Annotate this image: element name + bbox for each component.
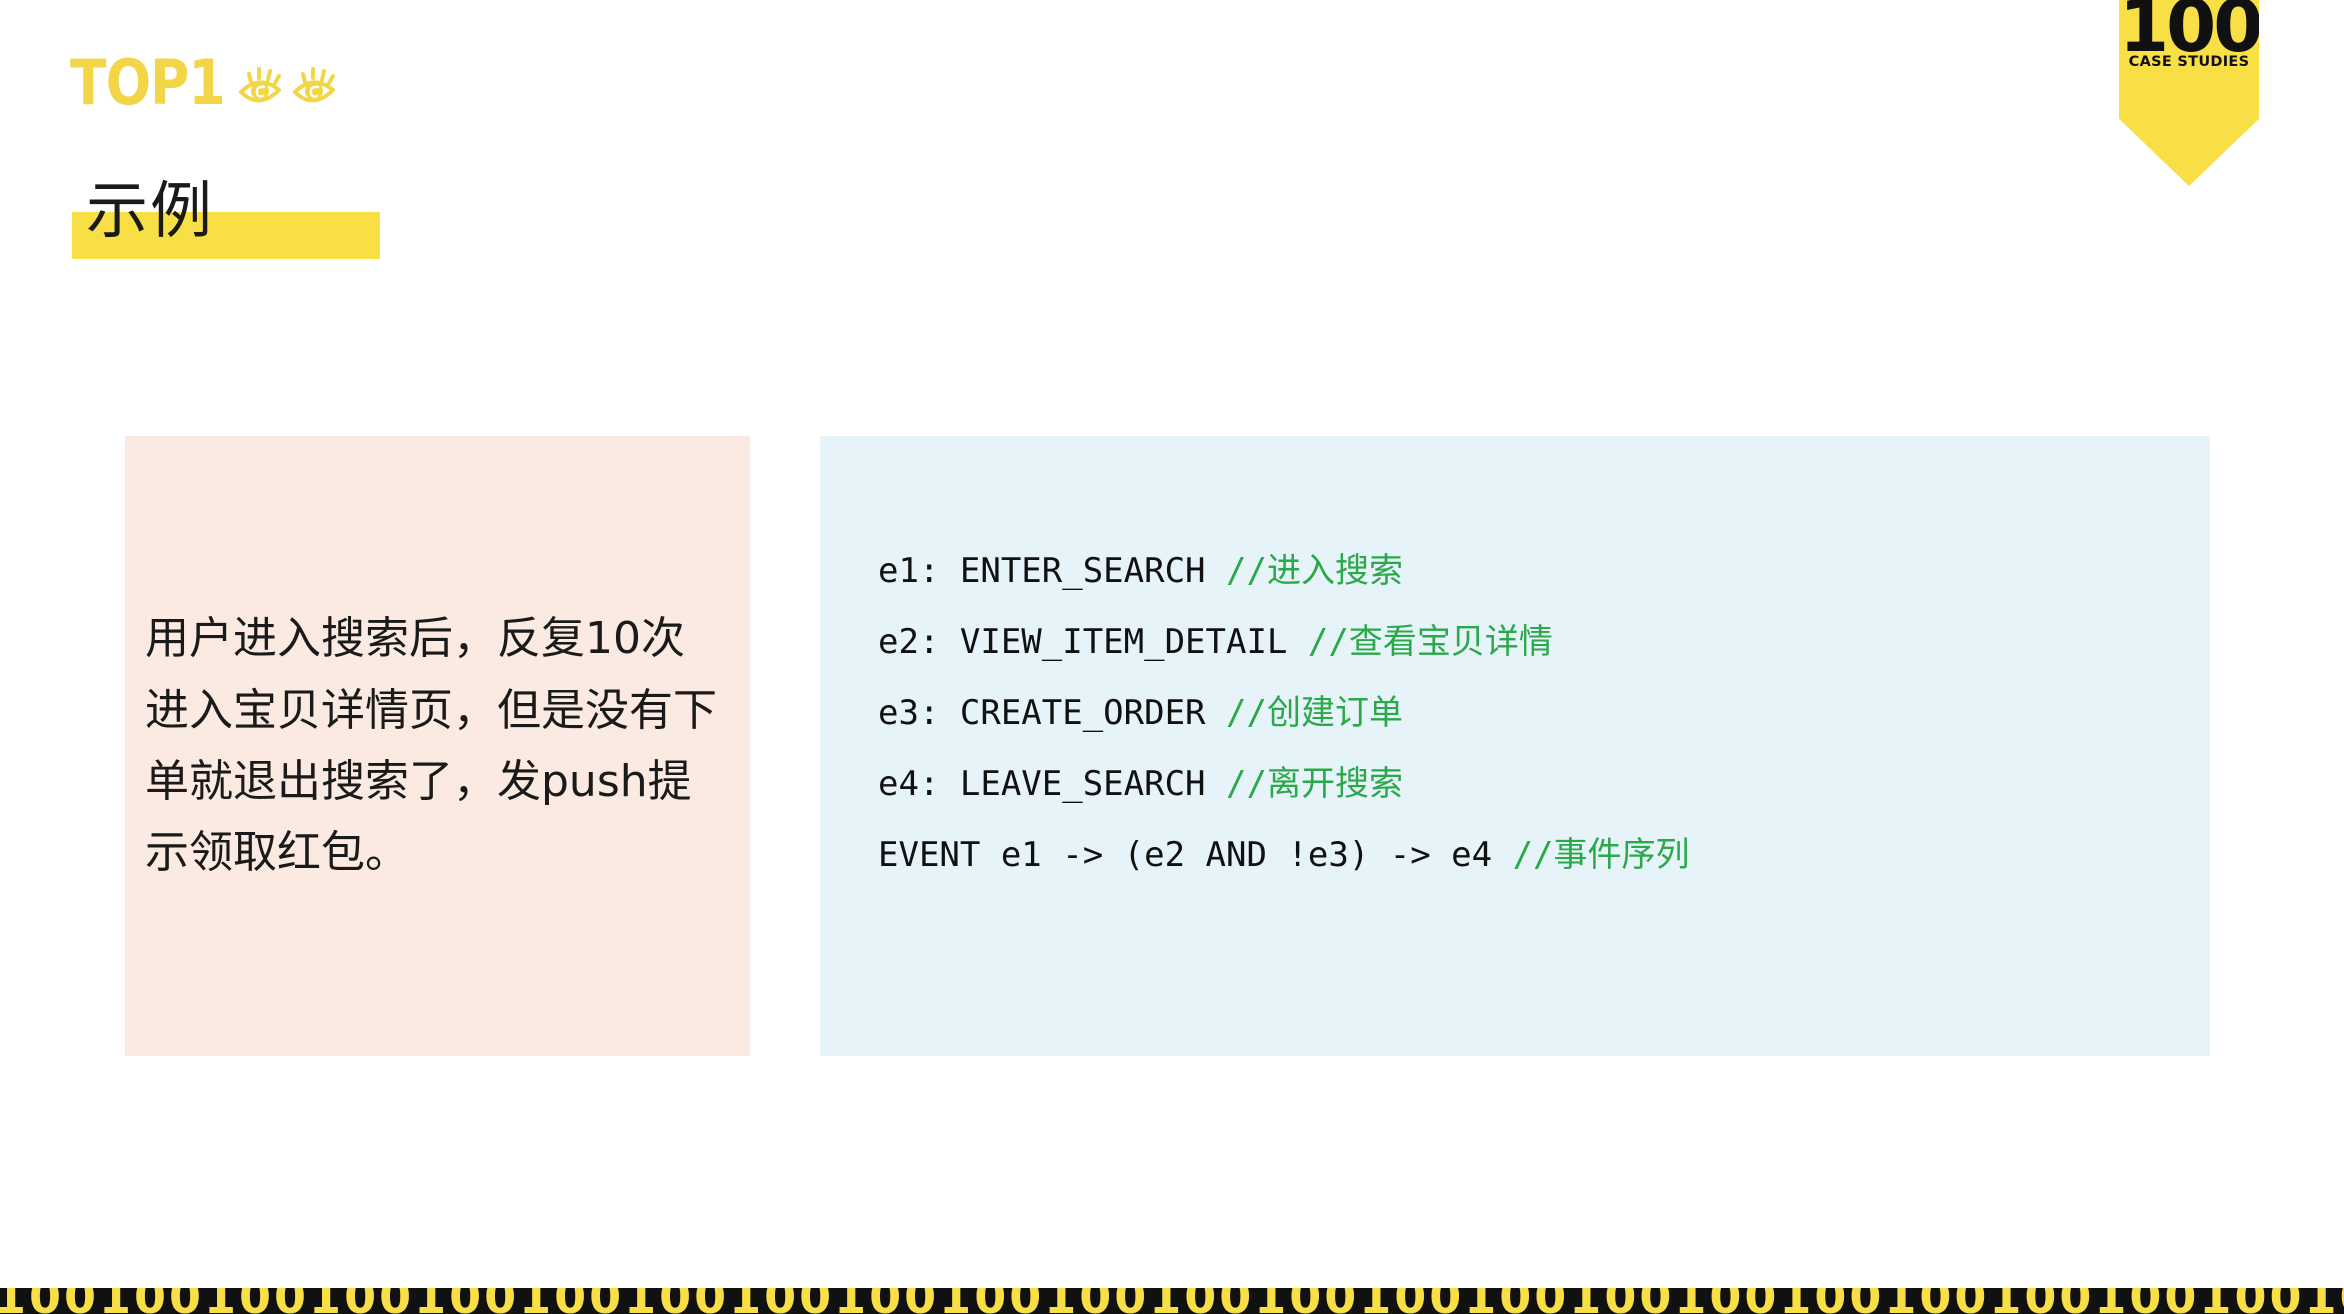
code-panel: e1: ENTER_SEARCH //进入搜索e2: VIEW_ITEM_DET…: [820, 436, 2210, 1056]
code-statement: EVENT e1 -> (e2 AND !e3) -> e4: [878, 835, 1513, 875]
scenario-text: 用户进入搜索后，反复10次进入宝贝详情页，但是没有下单就退出搜索了，发push提…: [125, 603, 750, 888]
code-comment: //进入搜索: [1226, 551, 1403, 591]
logo-wordmark: TOP1: [70, 52, 225, 114]
code-statement: e2: VIEW_ITEM_DETAIL: [878, 622, 1308, 662]
ribbon-subtitle: CASE STUDIES: [2119, 54, 2259, 70]
code-line: EVENT e1 -> (e2 AND !e3) -> e4 //事件序列: [878, 820, 2210, 891]
code-line-list: e1: ENTER_SEARCH //进入搜索e2: VIEW_ITEM_DET…: [878, 536, 2210, 891]
code-line: e2: VIEW_ITEM_DETAIL //查看宝贝详情: [878, 607, 2210, 678]
code-comment: //创建订单: [1226, 693, 1403, 733]
footer-pattern-strip: 1001001001001001001001001001001001001001…: [0, 1288, 2344, 1314]
page-title: 示例: [72, 178, 214, 262]
code-comment: //查看宝贝详情: [1308, 622, 1553, 662]
code-line: e3: CREATE_ORDER //创建订单: [878, 678, 2210, 749]
case-studies-ribbon: 100 CASE STUDIES: [2119, 0, 2259, 186]
ribbon-number: 100: [2119, 0, 2259, 62]
eyes-icon: [237, 60, 345, 112]
code-statement: e4: LEAVE_SEARCH: [878, 764, 1226, 804]
code-comment: //离开搜索: [1226, 764, 1403, 804]
code-statement: e3: CREATE_ORDER: [878, 693, 1226, 733]
code-line: e1: ENTER_SEARCH //进入搜索: [878, 536, 2210, 607]
code-line: e4: LEAVE_SEARCH //离开搜索: [878, 749, 2210, 820]
slide-canvas: TOP1: [0, 0, 2344, 1314]
top1-logo: TOP1: [70, 52, 345, 114]
code-statement: e1: ENTER_SEARCH: [878, 551, 1226, 591]
scenario-panel: 用户进入搜索后，反复10次进入宝贝详情页，但是没有下单就退出搜索了，发push提…: [125, 436, 750, 1056]
code-comment: //事件序列: [1513, 835, 1690, 875]
footer-pattern-text: 1001001001001001001001001001001001001001…: [0, 1288, 2344, 1314]
title-label: 示例: [72, 178, 214, 243]
